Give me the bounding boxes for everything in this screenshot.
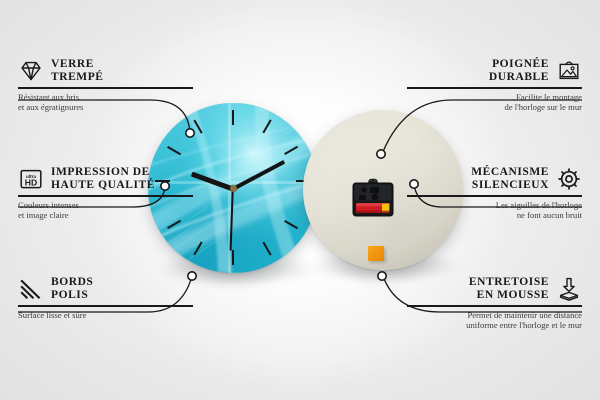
feature-description: Facilite le montage de l'horloge sur le … [407,92,582,113]
quartz-movement [351,176,395,218]
diamond-icon [18,58,44,84]
feature-title: ENTRETOISE EN MOUSSE [469,276,549,302]
feature-description: Surface lisse et sûre [18,310,193,320]
feature-verre-trempe: VERRE TREMPÉ Résistant aux bris et aux é… [18,58,193,112]
clock-tick [232,250,234,265]
feature-title: POIGNÉE DURABLE [489,58,549,84]
polished-edges-icon [18,276,44,302]
feature-bords-polis: BORDS POLIS Surface lisse et sûre [18,276,193,320]
gear-icon [556,166,582,192]
feature-divider [18,195,193,197]
ultra-hd-icon: ultra HD [18,166,44,192]
foam-spacer [368,246,384,261]
feature-description: Les aiguilles de l'horloge ne font aucun… [407,200,582,221]
feature-title: MÉCANISME SILENCIEUX [471,166,549,192]
feature-description: Résistant aux bris et aux égratignures [18,92,193,113]
feature-description: Permet de maintenir une distance uniform… [407,310,582,331]
feature-divider [407,305,582,307]
feature-description: Couleurs intenses et image claire [18,200,193,221]
wall-hanger-icon [556,58,582,84]
feature-divider [18,305,193,307]
feature-poignee-durable: POIGNÉE DURABLE Facilite le montage de l… [407,58,582,112]
feature-mecanisme-silencieux: MÉCANISME SILENCIEUX Les aiguilles de l'… [407,166,582,220]
feature-title: IMPRESSION DE HAUTE QUALITÉ [51,166,155,192]
feature-title: VERRE TREMPÉ [51,58,104,84]
infographic-canvas: VERRE TREMPÉ Résistant aux bris et aux é… [0,0,600,400]
feature-divider [18,87,193,89]
feature-title: BORDS POLIS [51,276,93,302]
feature-divider [407,87,582,89]
svg-text:HD: HD [25,177,37,187]
feature-impression-haute-qualite: ultra HD IMPRESSION DE HAUTE QUALITÉ Cou… [18,166,193,220]
feature-divider [407,195,582,197]
foam-spacer-icon [556,276,582,302]
clock-tick [232,110,234,125]
feature-entretoise-en-mousse: ENTRETOISE EN MOUSSE Permet de maintenir… [407,276,582,330]
hands-center-cap [230,185,237,192]
